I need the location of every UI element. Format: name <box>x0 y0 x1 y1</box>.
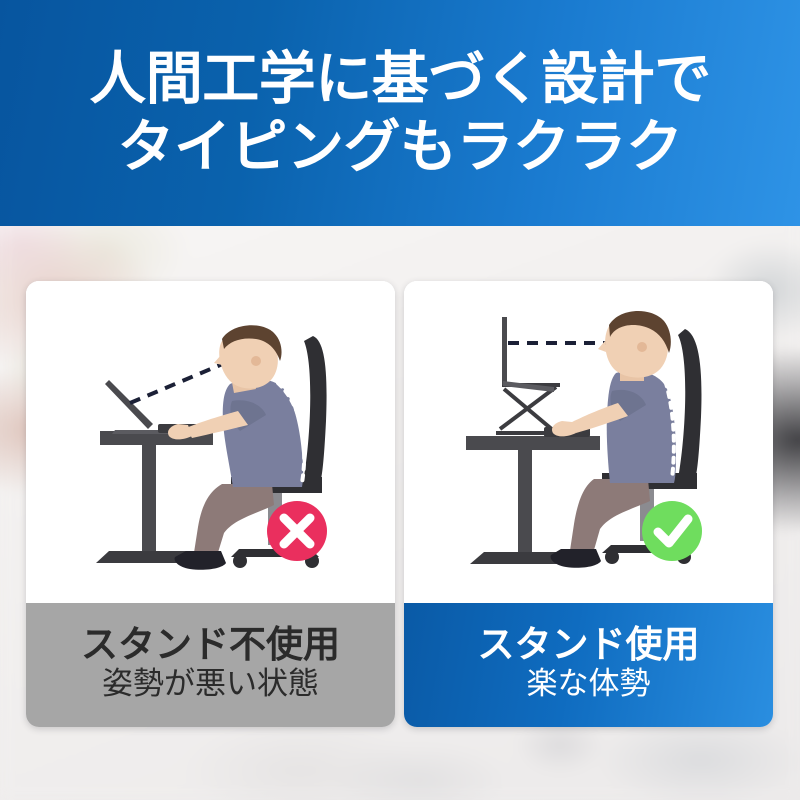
card-bad-posture[interactable]: スタンド不使用 姿勢が悪い状態 <box>26 281 395 727</box>
good-title: スタンド使用 <box>478 625 700 665</box>
headline-line-2: タイピングもラクラク <box>118 118 683 176</box>
footer-good-posture: スタンド使用 楽な体勢 <box>404 603 773 727</box>
desk-column <box>518 450 532 552</box>
desk-column <box>142 445 156 551</box>
comparison-cards: スタンド不使用 姿勢が悪い状態 <box>26 281 774 727</box>
good-subtitle: 楽な体勢 <box>527 667 651 702</box>
bad-title: スタンド不使用 <box>81 625 340 665</box>
bad-subtitle: 姿勢が悪い状態 <box>102 667 319 702</box>
chair-caster-left <box>605 550 619 564</box>
illustration-upright-posture <box>404 281 773 603</box>
illustration-hunched-posture <box>26 281 395 603</box>
card-good-posture[interactable]: スタンド使用 楽な体勢 <box>404 281 773 727</box>
desk-top <box>466 436 600 450</box>
header-banner: 人間工学に基づく設計で タイピングもラクラク <box>0 0 800 226</box>
headline-line-1: 人間工学に基づく設計で <box>89 50 711 108</box>
laptop-screen <box>502 317 507 385</box>
figure-good-posture <box>404 281 773 603</box>
check-badge <box>642 501 702 561</box>
person-ear <box>251 356 261 366</box>
footer-bad-posture: スタンド不使用 姿勢が悪い状態 <box>26 603 395 727</box>
product-banner-page: 人間工学に基づく設計で タイピングもラクラク <box>0 0 800 800</box>
person-ear <box>637 342 647 352</box>
figure-bad-posture <box>26 281 395 603</box>
chair-caster-left <box>233 554 247 568</box>
